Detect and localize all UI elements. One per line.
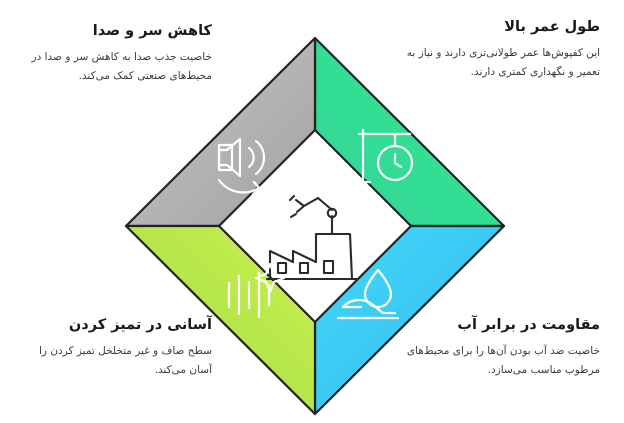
rhombus-diagram — [118, 30, 512, 422]
infographic-stage: طول عمر بالا این کفپوش‌ها عمر طولانی‌تری… — [0, 0, 624, 423]
